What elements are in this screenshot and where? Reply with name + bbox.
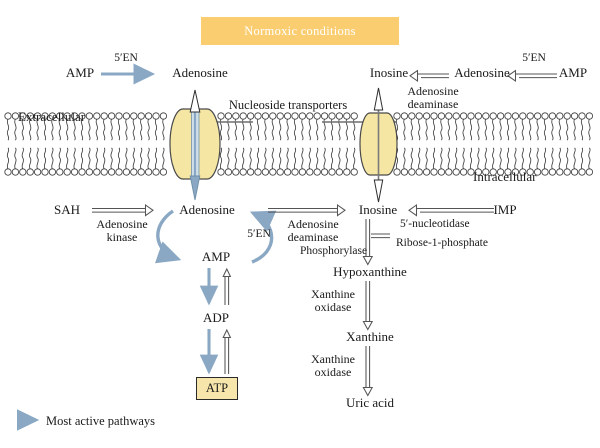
label-xanthine: Xanthine	[346, 330, 394, 344]
label-uric-acid: Uric acid	[346, 396, 394, 410]
label-inosine-intracellular: Inosine	[359, 203, 397, 217]
label-ribose-1-phosphate: Ribose-1-phosphate	[396, 237, 488, 249]
label-5en-intracellular: 5′EN	[247, 228, 271, 240]
label-xanthine-oxidase-2: Xanthine oxidase	[311, 353, 355, 379]
label-sah: SAH	[54, 203, 80, 217]
label-amp-intracellular: AMP	[202, 250, 230, 264]
edge-inosine-to-hypoxanthine	[363, 219, 390, 265]
label-nucleoside-transporters: Nucleoside transporters	[229, 99, 347, 113]
edge-adenosine-to-inosine-extracellular	[410, 71, 449, 81]
label-5en-extracellular-left: 5′EN	[114, 52, 138, 64]
arrow-nucleoside-transporter-right	[322, 118, 396, 126]
label-intracellular: Intracellular	[473, 170, 537, 184]
label-imp: IMP	[493, 203, 516, 217]
label-phosphorylase: Phosphorylase	[300, 245, 367, 257]
edge-hypoxanthine-to-xanthine	[363, 281, 372, 330]
label-5en-extracellular-right: 5′EN	[522, 52, 546, 64]
label-adenosine-kinase: Adenosine kinase	[96, 218, 147, 244]
label-adenosine-extracellular-right: Adenosine	[454, 66, 510, 80]
label-inosine-extracellular: Inosine	[370, 66, 408, 80]
edge-amp-to-adenosine-extracellular-right	[508, 71, 557, 81]
nucleoside-transporter-right	[360, 88, 397, 202]
edge-adenosine-to-inosine-intracellular	[268, 205, 345, 216]
banner-normoxic-conditions: Normoxic conditions	[201, 17, 399, 45]
edge-atp-to-adp	[223, 330, 230, 374]
legend-label: Most active pathways	[46, 414, 155, 429]
edge-imp-to-inosine	[409, 205, 494, 216]
banner-title: Normoxic conditions	[244, 24, 356, 39]
label-adp: ADP	[203, 311, 229, 325]
nucleoside-transporter-left	[170, 90, 220, 200]
label-atp-box: ATP	[196, 377, 238, 400]
label-adenosine-deaminase-extracellular: Adenosine deaminase	[407, 85, 458, 111]
label-amp-extracellular-left: AMP	[66, 66, 94, 80]
edge-sah-to-adenosine	[92, 205, 153, 216]
label-adenosine-intracellular: Adenosine	[179, 203, 235, 217]
arrow-nucleoside-transporter-left	[174, 118, 253, 126]
diagram-canvas: Normoxic conditions	[0, 0, 600, 448]
label-xanthine-oxidase-1: Xanthine oxidase	[311, 288, 355, 314]
lipid-bilayer	[5, 113, 593, 175]
label-hypoxanthine: Hypoxanthine	[333, 265, 407, 279]
edge-xanthine-to-uric-acid	[363, 346, 372, 396]
label-adenosine-extracellular-left: Adenosine	[172, 66, 228, 80]
label-amp-extracellular-right: AMP	[559, 66, 587, 80]
edge-adp-to-amp	[223, 269, 230, 305]
label-extracellular: Extracellular	[18, 110, 85, 124]
label-adenosine-deaminase-intracellular: Adenosine deaminase	[287, 218, 338, 244]
label-5-nucleotidase: 5′-nucleotidase	[400, 218, 470, 230]
label-atp: ATP	[206, 381, 228, 396]
